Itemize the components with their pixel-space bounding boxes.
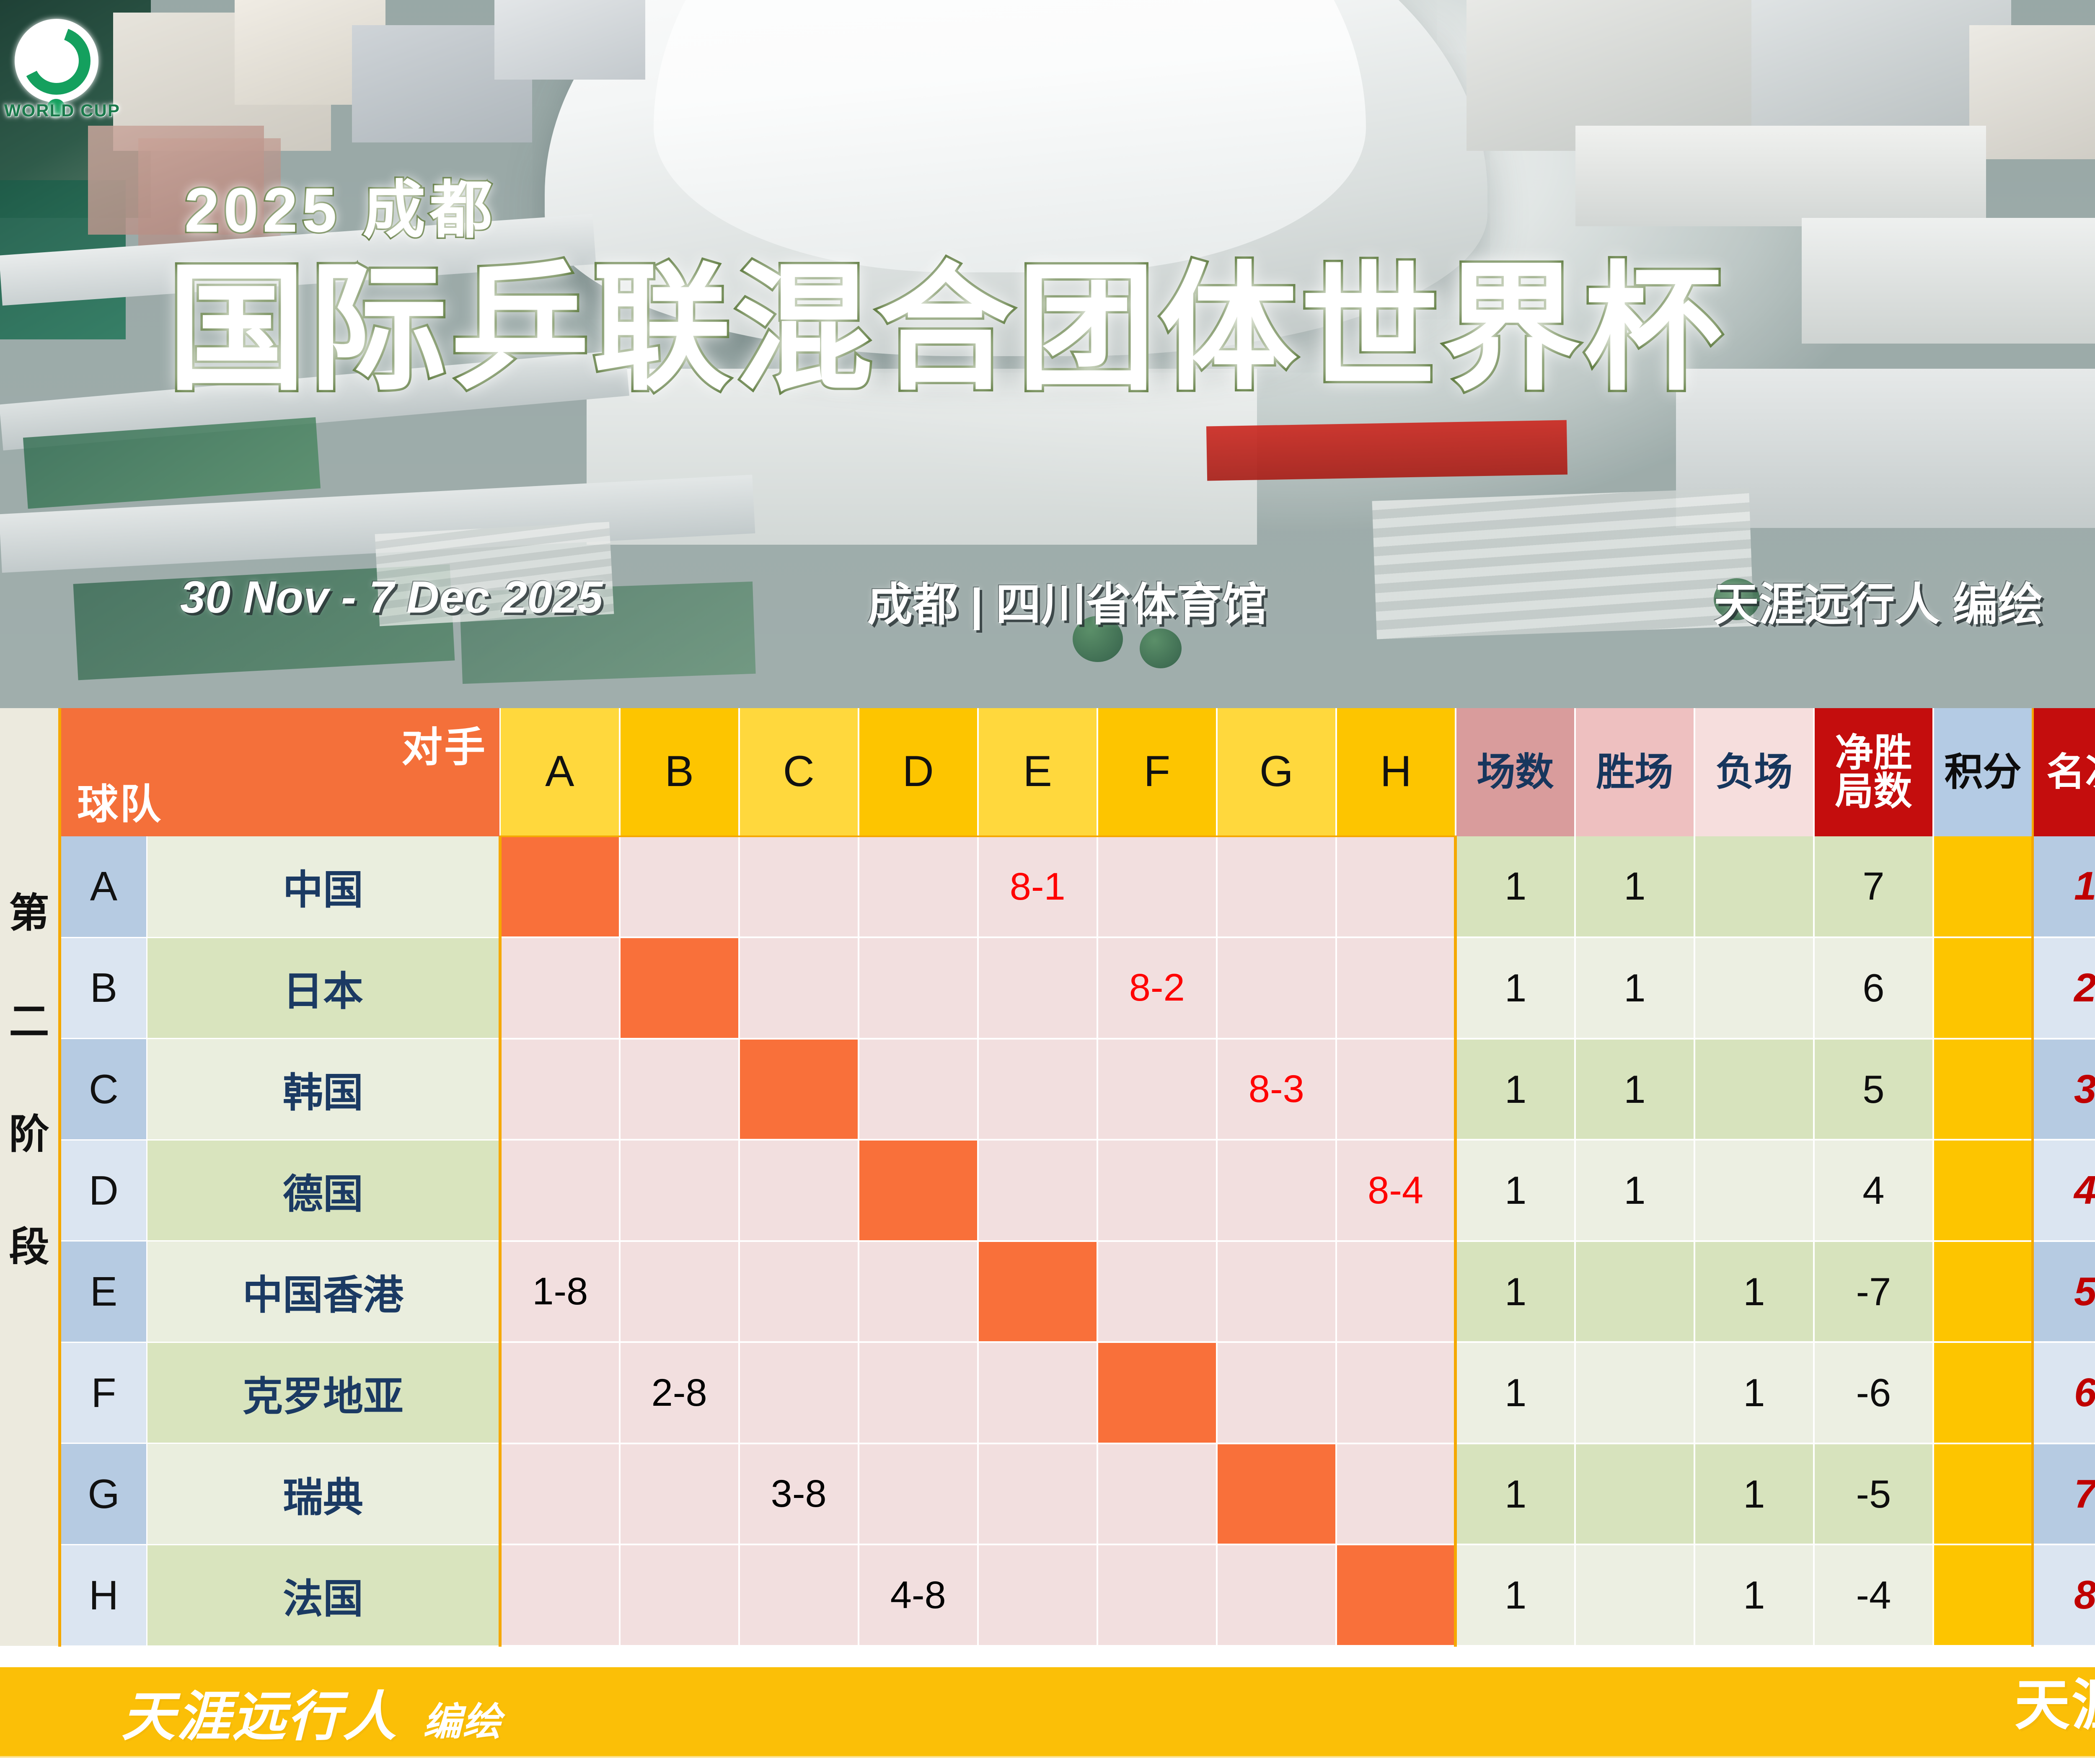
matrix-result-cell: [620, 836, 739, 938]
matrix-diagonal-cell: [859, 1140, 978, 1241]
team-name-cell: 中国: [147, 836, 500, 938]
matrix-result-cell: [739, 937, 859, 1039]
rank-cell: 7: [2033, 1443, 2095, 1545]
arena-roof-highlight: [654, 0, 1366, 272]
header-game-diff-line2: 局数: [1815, 772, 1932, 811]
row-code-d: D: [60, 1140, 147, 1241]
stat-diff-cell: 6: [1814, 937, 1933, 1039]
matrix-result-cell: [1336, 1342, 1456, 1443]
matrix-result-cell: [1097, 1443, 1217, 1545]
matrix-result-cell: [978, 1039, 1097, 1140]
matrix-result-cell: [500, 1443, 620, 1545]
banner-title: 国际乒联混合团体世界杯: [168, 260, 1725, 398]
opponent-col-g: G: [1217, 708, 1336, 836]
matrix-result-cell: [1097, 1544, 1217, 1646]
team-name-cell: 法国: [147, 1544, 500, 1646]
stat-losses-cell: [1694, 937, 1814, 1039]
row-code-b: B: [60, 937, 147, 1039]
row-code-a: A: [60, 836, 147, 938]
matrix-result-cell: [1097, 1140, 1217, 1241]
stat-played-cell: 1: [1456, 937, 1575, 1039]
footer-credit-right: 天涯远行人: [2015, 1661, 2095, 1741]
matrix-result-cell: [500, 937, 620, 1039]
world-cup-inner-icon: [34, 39, 79, 83]
matrix-result-cell: [739, 836, 859, 938]
stat-losses-cell: [1694, 836, 1814, 938]
matrix-result-cell: [620, 1443, 739, 1545]
event-dates: 30 Nov - 7 Dec 2025: [180, 571, 603, 623]
world-cup-label: WORLD CUP: [4, 101, 130, 121]
stat-diff-cell: 7: [1814, 836, 1933, 938]
opponent-col-f: F: [1097, 708, 1217, 836]
stage-char: 阶: [0, 1102, 58, 1160]
table-row: H法国4-811-48: [0, 1544, 2095, 1646]
matrix-result-cell: [1217, 1241, 1336, 1342]
matrix-result-cell: 8-2: [1097, 937, 1217, 1039]
standings-table: 第 二 阶 段 对手 球队 A B C: [0, 708, 2095, 1647]
row-code-h: H: [60, 1544, 147, 1646]
stat-played-cell: 1: [1456, 836, 1575, 938]
rank-cell: 5: [2033, 1241, 2095, 1342]
stat-diff-cell: -4: [1814, 1544, 1933, 1646]
stat-wins-cell: 1: [1575, 836, 1694, 938]
matrix-result-cell: [1336, 1241, 1456, 1342]
matrix-result-cell: [500, 1544, 620, 1646]
matrix-result-cell: [739, 1342, 859, 1443]
header-points: 积分: [1933, 708, 2033, 836]
matrix-result-cell: [1097, 1241, 1217, 1342]
stage-char: 段: [0, 1214, 58, 1273]
rank-cell: 2: [2033, 937, 2095, 1039]
stat-played-cell: 1: [1456, 1241, 1575, 1342]
matrix-result-cell: [620, 1544, 739, 1646]
stat-wins-cell: [1575, 1241, 1694, 1342]
team-name-cell: 韩国: [147, 1039, 500, 1140]
team-name-cell: 德国: [147, 1140, 500, 1241]
footer-author-role: 编绘: [423, 1701, 502, 1743]
team-name-cell: 瑞典: [147, 1443, 500, 1545]
matrix-diagonal-cell: [978, 1241, 1097, 1342]
rank-cell: 3: [2033, 1039, 2095, 1140]
matrix-result-cell: [978, 1342, 1097, 1443]
opponent-col-c: C: [739, 708, 859, 836]
stat-points-cell: [1933, 1342, 2033, 1443]
rank-cell: 6: [2033, 1342, 2095, 1443]
stat-wins-cell: [1575, 1443, 1694, 1545]
corner-opponent-label: 对手: [401, 714, 487, 773]
header-played: 场数: [1456, 708, 1575, 836]
table-header-row: 第 二 阶 段 对手 球队 A B C: [0, 708, 2095, 836]
team-name-cell: 日本: [147, 937, 500, 1039]
standings-table-wrapper: 第 二 阶 段 对手 球队 A B C: [0, 708, 2095, 1647]
matrix-result-cell: [1217, 1140, 1336, 1241]
matrix-result-cell: [1217, 937, 1336, 1039]
matrix-diagonal-cell: [739, 1039, 859, 1140]
matrix-result-cell: [1097, 836, 1217, 938]
table-row: F克罗地亚2-811-66: [0, 1342, 2095, 1443]
matrix-result-cell: [1336, 1443, 1456, 1545]
matrix-result-cell: 8-1: [978, 836, 1097, 938]
corner-header: 对手 球队: [60, 708, 500, 836]
corner-team-label: 球队: [77, 771, 163, 830]
stat-played-cell: 1: [1456, 1342, 1575, 1443]
matrix-diagonal-cell: [1336, 1544, 1456, 1646]
stage-label-cell: 第 二 阶 段: [0, 708, 60, 1646]
matrix-result-cell: 3-8: [739, 1443, 859, 1545]
stat-losses-cell: [1694, 1039, 1814, 1140]
matrix-result-cell: [859, 836, 978, 938]
stat-points-cell: [1933, 1039, 2033, 1140]
matrix-result-cell: 4-8: [859, 1544, 978, 1646]
rank-cell: 4: [2033, 1140, 2095, 1241]
matrix-result-cell: [1336, 836, 1456, 938]
opponent-col-b: B: [620, 708, 739, 836]
matrix-diagonal-cell: [500, 836, 620, 938]
matrix-result-cell: [739, 1241, 859, 1342]
stage-char: 第: [0, 880, 58, 939]
row-code-g: G: [60, 1443, 147, 1545]
matrix-result-cell: [978, 1544, 1097, 1646]
team-name-cell: 克罗地亚: [147, 1342, 500, 1443]
footer-bar: 天涯远行人编绘 天涯远行人: [0, 1666, 2095, 1758]
bg-decor: [1802, 218, 2095, 344]
table-row: D德国8-41144: [0, 1140, 2095, 1241]
bg-decor: [1969, 25, 2095, 159]
matrix-result-cell: [1217, 1342, 1336, 1443]
event-venue: 成都 | 四川省体育馆: [867, 568, 1267, 634]
stat-played-cell: 1: [1456, 1544, 1575, 1646]
footer-credit-left: 天涯远行人编绘: [122, 1673, 502, 1751]
matrix-result-cell: [859, 1241, 978, 1342]
table-row: C韩国8-31153: [0, 1039, 2095, 1140]
matrix-result-cell: [859, 1039, 978, 1140]
matrix-result-cell: [500, 1342, 620, 1443]
header-losses: 负场: [1694, 708, 1814, 836]
matrix-result-cell: [978, 1140, 1097, 1241]
stat-played-cell: 1: [1456, 1039, 1575, 1140]
matrix-result-cell: 2-8: [620, 1342, 739, 1443]
bg-decor: [494, 0, 645, 80]
table-row: E中国香港1-811-75: [0, 1241, 2095, 1342]
matrix-diagonal-cell: [1217, 1443, 1336, 1545]
stat-losses-cell: [1694, 1140, 1814, 1241]
table-row: G瑞典3-811-57: [0, 1443, 2095, 1545]
matrix-diagonal-cell: [620, 937, 739, 1039]
stat-diff-cell: -5: [1814, 1443, 1933, 1545]
matrix-result-cell: [620, 1140, 739, 1241]
matrix-result-cell: [500, 1039, 620, 1140]
opponent-col-e: E: [978, 708, 1097, 836]
matrix-result-cell: [1336, 937, 1456, 1039]
stat-wins-cell: 1: [1575, 1039, 1694, 1140]
stat-losses-cell: 1: [1694, 1544, 1814, 1646]
matrix-result-cell: [1217, 836, 1336, 938]
matrix-result-cell: [859, 1342, 978, 1443]
matrix-result-cell: [859, 1443, 978, 1545]
stat-played-cell: 1: [1456, 1443, 1575, 1545]
header-game-diff-line1: 净胜: [1815, 734, 1932, 772]
team-name-cell: 中国香港: [147, 1241, 500, 1342]
matrix-diagonal-cell: [1097, 1342, 1217, 1443]
matrix-result-cell: [1336, 1039, 1456, 1140]
row-code-f: F: [60, 1342, 147, 1443]
stat-losses-cell: 1: [1694, 1241, 1814, 1342]
matrix-result-cell: 1-8: [500, 1241, 620, 1342]
stat-points-cell: [1933, 1443, 2033, 1545]
world-cup-logo: WORLD CUP: [4, 17, 142, 117]
matrix-result-cell: [978, 1443, 1097, 1545]
banner-subtitle-row: 30 Nov - 7 Dec 2025 成都 | 四川省体育馆 天涯远行人 编绘: [0, 566, 2095, 641]
matrix-result-cell: [859, 937, 978, 1039]
rank-cell: 1: [2033, 836, 2095, 938]
stat-wins-cell: [1575, 1342, 1694, 1443]
stat-losses-cell: 1: [1694, 1443, 1814, 1545]
opponent-col-a: A: [500, 708, 620, 836]
bg-decor: [1575, 126, 1986, 226]
row-code-e: E: [60, 1241, 147, 1342]
banner-year-city: 2025 成都: [184, 159, 497, 250]
stat-points-cell: [1933, 1241, 2033, 1342]
stat-losses-cell: 1: [1694, 1342, 1814, 1443]
stat-points-cell: [1933, 1544, 2033, 1646]
table-row: B日本8-21162: [0, 937, 2095, 1039]
stat-diff-cell: -7: [1814, 1241, 1933, 1342]
infographic-page: WORLD CUP ITTF MIXED TEAM WORLD CUP CHEN…: [0, 0, 2095, 1764]
stat-points-cell: [1933, 937, 2033, 1039]
opponent-col-h: H: [1336, 708, 1456, 836]
matrix-result-cell: [739, 1544, 859, 1646]
stat-points-cell: [1933, 1140, 2033, 1241]
table-row: A中国8-11171: [0, 836, 2095, 938]
row-code-c: C: [60, 1039, 147, 1140]
matrix-result-cell: [739, 1140, 859, 1241]
footer-author-name: 天涯远行人: [122, 1687, 398, 1747]
header-wins: 胜场: [1575, 708, 1694, 836]
stat-wins-cell: 1: [1575, 1140, 1694, 1241]
matrix-result-cell: [978, 937, 1097, 1039]
rank-cell: 8: [2033, 1544, 2095, 1646]
header-banner: WORLD CUP ITTF MIXED TEAM WORLD CUP CHEN…: [0, 0, 2095, 708]
matrix-result-cell: 8-3: [1217, 1039, 1336, 1140]
opponent-col-d: D: [859, 708, 978, 836]
matrix-result-cell: [620, 1039, 739, 1140]
bg-decor: [1206, 420, 1567, 481]
matrix-result-cell: [620, 1241, 739, 1342]
stat-diff-cell: 4: [1814, 1140, 1933, 1241]
matrix-result-cell: [500, 1140, 620, 1241]
stat-wins-cell: 1: [1575, 937, 1694, 1039]
matrix-result-cell: [1097, 1039, 1217, 1140]
stage-char: 二: [0, 989, 58, 1047]
stat-points-cell: [1933, 836, 2033, 938]
header-game-diff: 净胜 局数: [1814, 708, 1933, 836]
matrix-result-cell: [1217, 1544, 1336, 1646]
stat-played-cell: 1: [1456, 1140, 1575, 1241]
stat-diff-cell: 5: [1814, 1039, 1933, 1140]
author-credit: 天涯远行人 编绘: [1714, 568, 2043, 634]
stat-diff-cell: -6: [1814, 1342, 1933, 1443]
header-rank: 名次: [2033, 708, 2095, 836]
stat-wins-cell: [1575, 1544, 1694, 1646]
matrix-result-cell: 8-4: [1336, 1140, 1456, 1241]
